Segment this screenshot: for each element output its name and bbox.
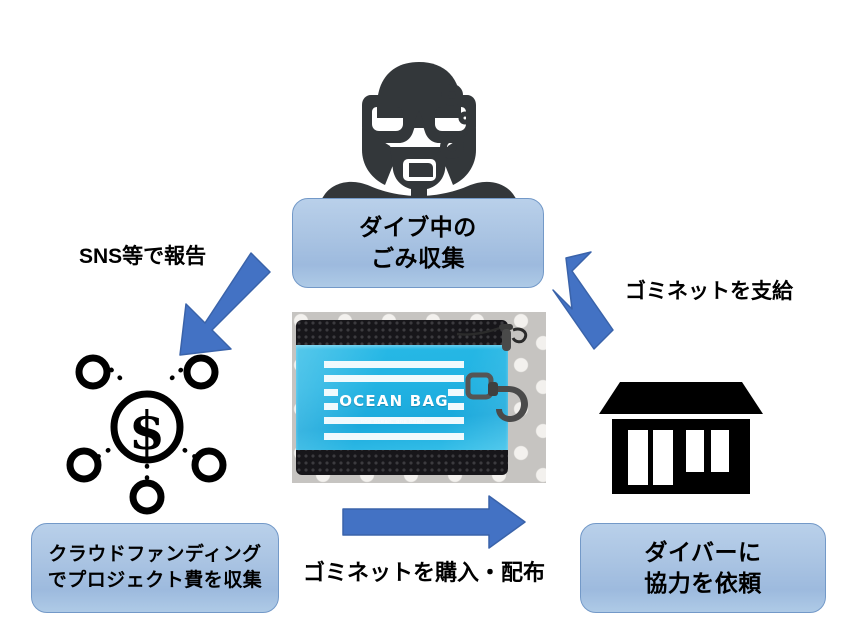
box-fund-line-2: でプロジェクト費を収集 <box>48 568 263 594</box>
caption-supply-gomi-net: ゴミネットを支給 <box>625 275 793 305</box>
caption-report-via-sns: SNS等で報告 <box>79 240 206 270</box>
diagram-canvas: $ <box>0 0 859 636</box>
arrow-up-left <box>553 252 613 349</box>
bubbles-icon <box>444 88 470 156</box>
crowdfunding-dollar-network-icon <box>70 358 223 511</box>
box-fund-line-1: クラウドファンディング <box>48 542 263 568</box>
bag-hardware <box>292 312 546 483</box>
box-diver-request[interactable]: ダイバーに 協力を依頼 <box>580 523 826 613</box>
shop-storefront-icon <box>599 382 763 494</box>
box-dive-line-1: ダイブ中の <box>359 212 477 243</box>
box-dive-collection[interactable]: ダイブ中の ごみ収集 <box>292 198 544 288</box>
arrow-right <box>343 496 525 548</box>
box-diver-line-1: ダイバーに <box>644 537 762 568</box>
ocean-bag-photo: OCEAN BAG one ocean, one heart. <box>292 312 546 483</box>
box-crowdfunding[interactable]: クラウドファンディング でプロジェクト費を収集 <box>31 523 279 613</box>
box-diver-line-2: 協力を依頼 <box>644 568 762 599</box>
box-dive-line-2: ごみ収集 <box>359 243 477 274</box>
caption-buy-distribute-gomi-net: ゴミネットを購入・配布 <box>303 555 545 587</box>
dollar-sign-icon: $ <box>129 401 165 462</box>
